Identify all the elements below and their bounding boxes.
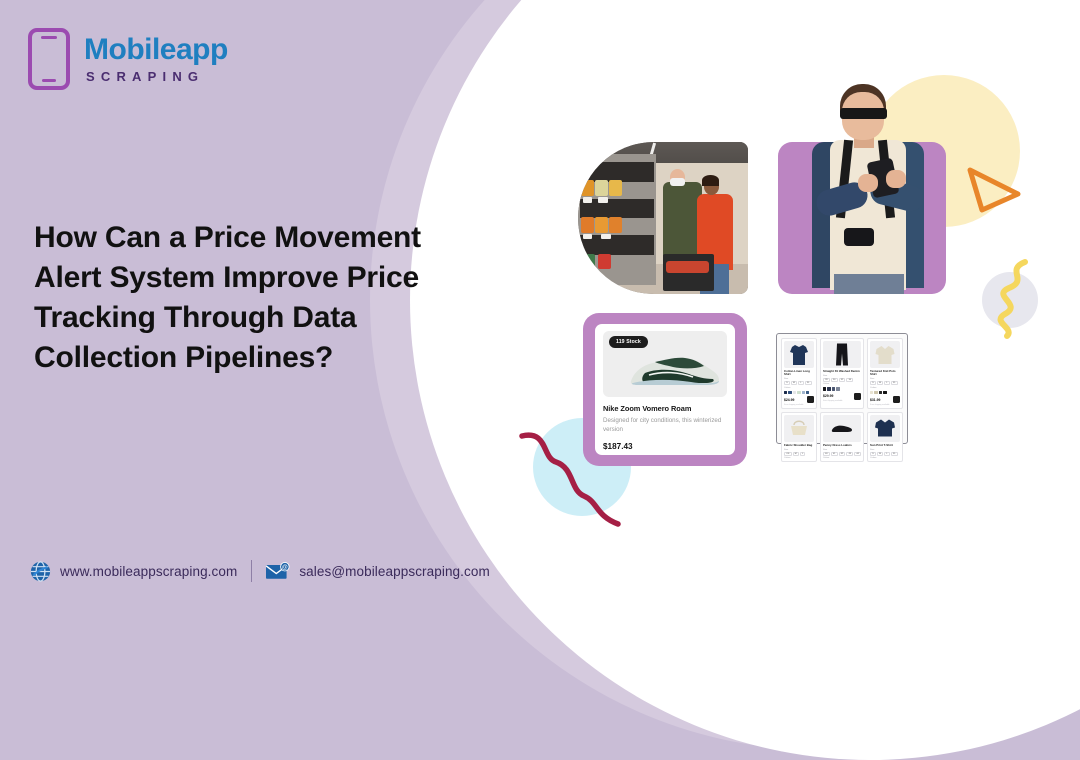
tile-price: $31.99 bbox=[870, 398, 880, 402]
brand-name: Mobileapp bbox=[84, 35, 228, 65]
tile-color-label: Colour bbox=[784, 387, 814, 389]
stock-badge: 119 Stock bbox=[609, 336, 648, 348]
size-option[interactable]: M bbox=[791, 381, 797, 385]
tile-title: Fabric Shoulder Bag bbox=[784, 444, 814, 447]
size-option[interactable]: 41 bbox=[831, 452, 838, 456]
tile-size-label: Size bbox=[870, 449, 900, 451]
black-denim-pants-image bbox=[823, 341, 861, 368]
footer-contact-bar: www.mobileappscraping.com @ sales@mobile… bbox=[30, 560, 490, 582]
tile-size-options[interactable]: 40 41 42 43 44 bbox=[823, 452, 861, 456]
tile-size-options[interactable]: S M L XL bbox=[784, 381, 814, 385]
black-loafers-image bbox=[823, 415, 861, 442]
size-option[interactable]: XL bbox=[805, 381, 812, 385]
size-option[interactable]: OS bbox=[784, 452, 792, 456]
man-with-phone-photo bbox=[778, 78, 946, 294]
maroon-squiggle-shape bbox=[518, 424, 628, 532]
tile-size-label: Size bbox=[823, 375, 861, 377]
tile-title: Penny Dress Loafers bbox=[823, 444, 861, 447]
brand-logo[interactable]: Mobileapp SCRAPING bbox=[28, 28, 228, 90]
size-option[interactable]: XL bbox=[891, 381, 898, 385]
size-option[interactable]: 30 bbox=[831, 378, 838, 382]
product-image: 119 Stock bbox=[603, 331, 727, 397]
globe-icon bbox=[30, 561, 51, 582]
tile-color-swatches[interactable] bbox=[823, 387, 861, 390]
product-catalog-grid[interactable]: Cotton-Linen Long Shirt Size S M L XL Co… bbox=[776, 333, 908, 444]
brand-tagline: SCRAPING bbox=[86, 69, 228, 84]
catalog-tile[interactable]: Cotton-Linen Long Shirt Size S M L XL Co… bbox=[781, 338, 817, 409]
tile-size-options[interactable]: S M L XL bbox=[870, 452, 900, 456]
size-option[interactable]: M bbox=[877, 452, 883, 456]
size-option[interactable]: 44 bbox=[854, 452, 861, 456]
tile-title: Straight Fit Washed Denim bbox=[823, 370, 861, 373]
catalog-tile[interactable]: Sun Print T-Shirt Size S M L XL Colour bbox=[867, 412, 903, 462]
tile-color-label: Colour bbox=[823, 457, 861, 459]
tile-size-options[interactable]: 28 30 32 34 bbox=[823, 378, 861, 382]
website-url[interactable]: www.mobileappscraping.com bbox=[60, 564, 237, 579]
tile-subtext: Free shipping available bbox=[870, 404, 900, 406]
size-option[interactable]: 28 bbox=[823, 378, 830, 382]
size-option[interactable]: M bbox=[877, 381, 883, 385]
tile-color-label: Colour bbox=[823, 383, 861, 385]
mobile-phone-outline-icon bbox=[28, 28, 70, 90]
size-option[interactable]: M bbox=[793, 452, 799, 456]
tile-size-options[interactable]: OS M L bbox=[784, 452, 814, 456]
tile-color-swatches[interactable] bbox=[784, 391, 814, 394]
size-option[interactable]: 42 bbox=[839, 452, 846, 456]
tile-size-options[interactable]: S M L XL bbox=[870, 381, 900, 385]
size-option[interactable]: L bbox=[798, 381, 804, 385]
size-option[interactable]: S bbox=[784, 381, 790, 385]
size-option[interactable]: 43 bbox=[846, 452, 853, 456]
size-option[interactable]: S bbox=[870, 452, 876, 456]
tile-size-label: Size bbox=[784, 449, 814, 451]
email-contact[interactable]: @ sales@mobileappscraping.com bbox=[266, 562, 490, 580]
add-to-cart-button[interactable] bbox=[854, 393, 861, 400]
tile-color-label: Colour bbox=[870, 457, 900, 459]
supermarket-shoppers-photo bbox=[578, 142, 748, 294]
yellow-squiggle-shape bbox=[985, 258, 1037, 340]
email-address[interactable]: sales@mobileappscraping.com bbox=[299, 564, 490, 579]
tile-title: Textured Knit Polo Shirt bbox=[870, 370, 900, 377]
tile-size-label: Size bbox=[784, 378, 814, 380]
beige-polo-shirt-image bbox=[870, 341, 900, 368]
svg-text:@: @ bbox=[282, 565, 288, 571]
tile-color-label: Colour bbox=[870, 387, 900, 389]
cream-shoulder-bag-image bbox=[784, 415, 814, 442]
left-content-column: Mobileapp SCRAPING How Can a Price Movem… bbox=[0, 0, 470, 608]
tile-title: Sun Print T-Shirt bbox=[870, 444, 900, 447]
add-to-cart-button[interactable] bbox=[807, 396, 814, 403]
navy-long-shirt-image bbox=[784, 341, 814, 368]
email-icon: @ bbox=[266, 562, 290, 580]
size-option[interactable]: XL bbox=[891, 452, 898, 456]
tile-price: $24.99 bbox=[784, 398, 794, 402]
navy-tshirt-image bbox=[870, 415, 900, 442]
tile-title: Cotton-Linen Long Shirt bbox=[784, 370, 814, 377]
size-option[interactable]: L bbox=[800, 452, 806, 456]
orange-play-triangle-icon bbox=[962, 160, 1026, 222]
size-option[interactable]: 40 bbox=[823, 452, 830, 456]
nike-sneaker-image bbox=[625, 353, 723, 389]
size-option[interactable]: L bbox=[884, 381, 890, 385]
tile-subtext: Free shipping available bbox=[784, 404, 814, 406]
size-option[interactable]: L bbox=[884, 452, 890, 456]
size-option[interactable]: 34 bbox=[846, 378, 853, 382]
catalog-tile[interactable]: Fabric Shoulder Bag Size OS M L Colour bbox=[781, 412, 817, 462]
footer-divider bbox=[251, 560, 252, 582]
size-option[interactable]: 32 bbox=[839, 378, 846, 382]
page-title: How Can a Price Movement Alert System Im… bbox=[34, 218, 454, 378]
tile-size-label: Size bbox=[870, 378, 900, 380]
product-title: Nike Zoom Vomero Roam bbox=[603, 404, 727, 413]
add-to-cart-button[interactable] bbox=[893, 396, 900, 403]
catalog-tile[interactable]: Penny Dress Loafers Size 40 41 42 43 44 … bbox=[820, 412, 864, 462]
catalog-tile[interactable]: Textured Knit Polo Shirt Size S M L XL C… bbox=[867, 338, 903, 409]
tile-size-label: Size bbox=[823, 449, 861, 451]
size-option[interactable]: S bbox=[870, 381, 876, 385]
tile-color-swatches[interactable] bbox=[870, 391, 900, 394]
tile-subtext: Free shipping available bbox=[823, 400, 861, 402]
tile-color-label: Colour bbox=[784, 457, 814, 459]
catalog-tile[interactable]: Straight Fit Washed Denim Size 28 30 32 … bbox=[820, 338, 864, 409]
tile-price: $29.99 bbox=[823, 394, 833, 398]
website-contact[interactable]: www.mobileappscraping.com bbox=[30, 561, 237, 582]
